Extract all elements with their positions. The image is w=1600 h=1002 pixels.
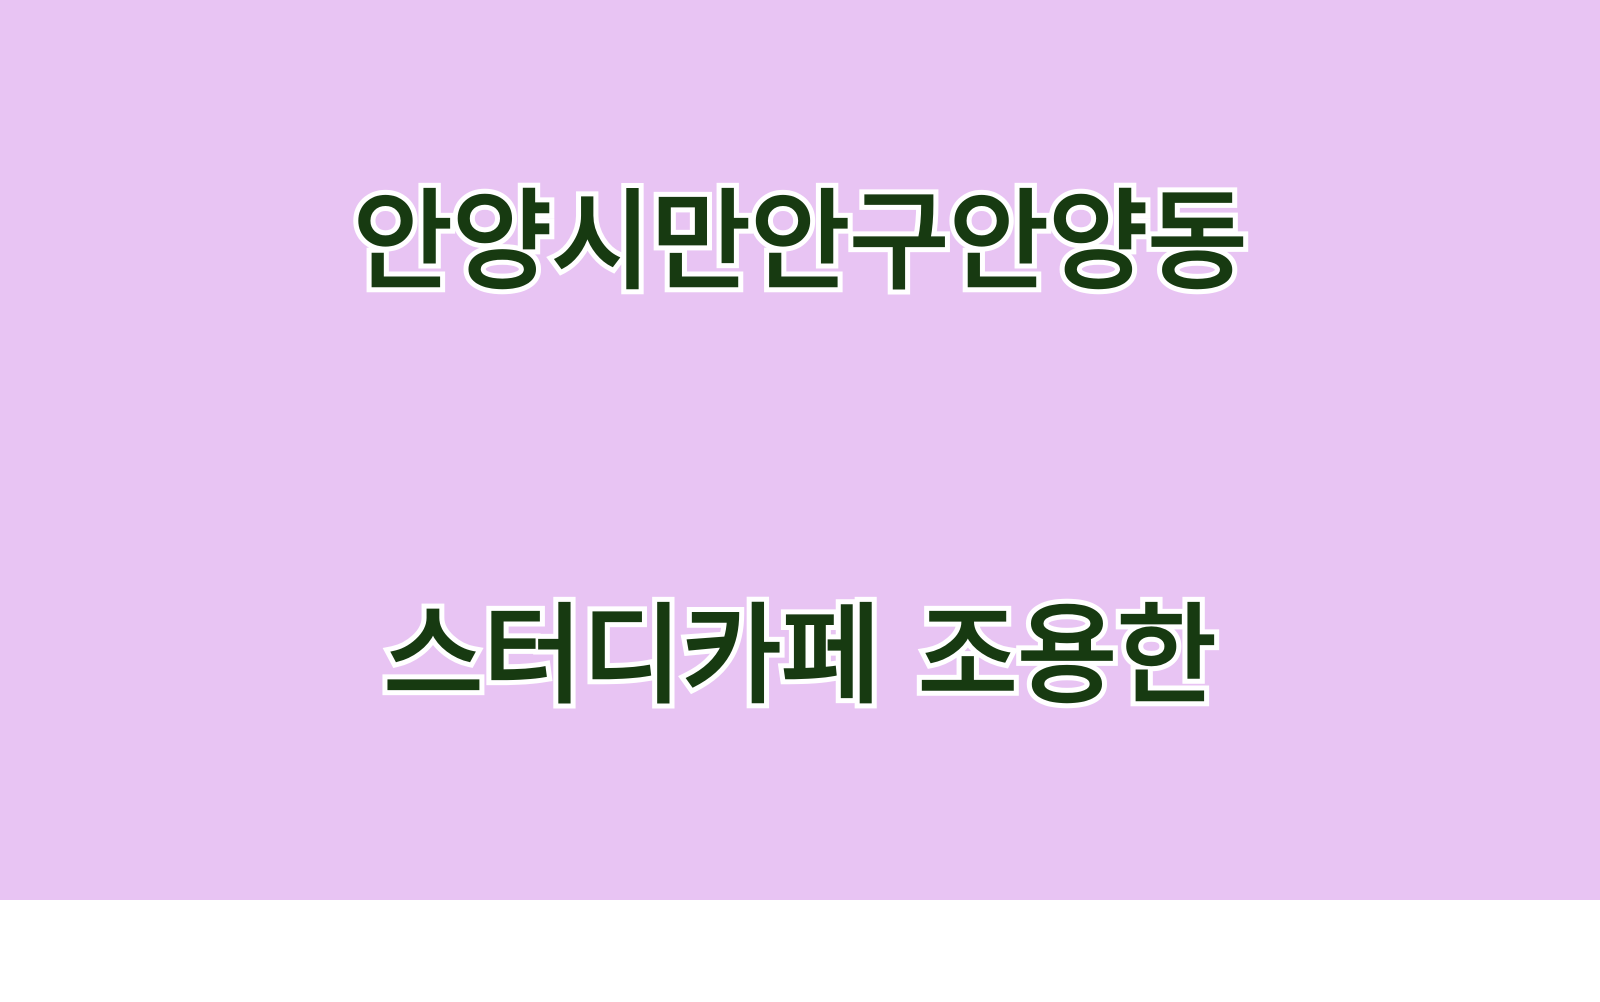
headline-line-1: 안양시만안구안양동 [353, 174, 1247, 312]
headline-text-block: 안양시만안구안양동 스터디카페 조용한 [353, 0, 1247, 1002]
text-banner: 안양시만안구안양동 스터디카페 조용한 [0, 0, 1600, 900]
headline-line-2: 스터디카페 조용한 [353, 588, 1247, 726]
